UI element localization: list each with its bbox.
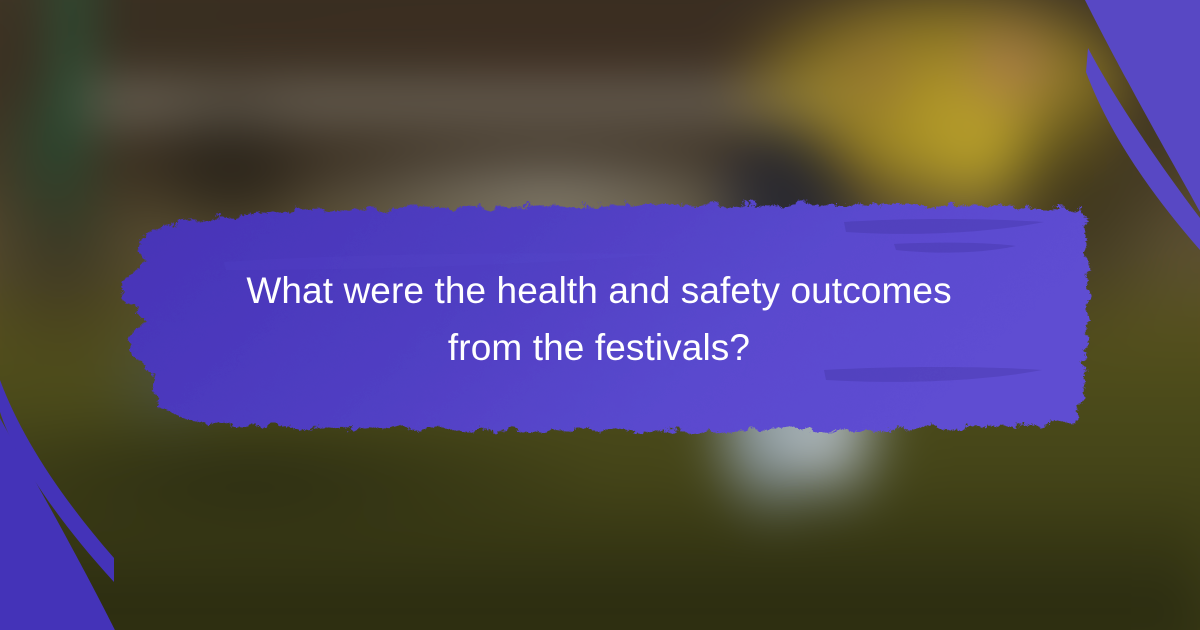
question-line-2: from the festivals? (448, 319, 750, 376)
background-face-blob-2 (830, 25, 925, 120)
background-grass-bottom (0, 480, 1200, 630)
question-text-block: What were the health and safety outcomes… (104, 192, 1094, 440)
question-banner: What were the health and safety outcomes… (104, 192, 1094, 440)
question-card: What were the health and safety outcomes… (0, 0, 1200, 630)
question-line-1: What were the health and safety outcomes (246, 262, 951, 319)
